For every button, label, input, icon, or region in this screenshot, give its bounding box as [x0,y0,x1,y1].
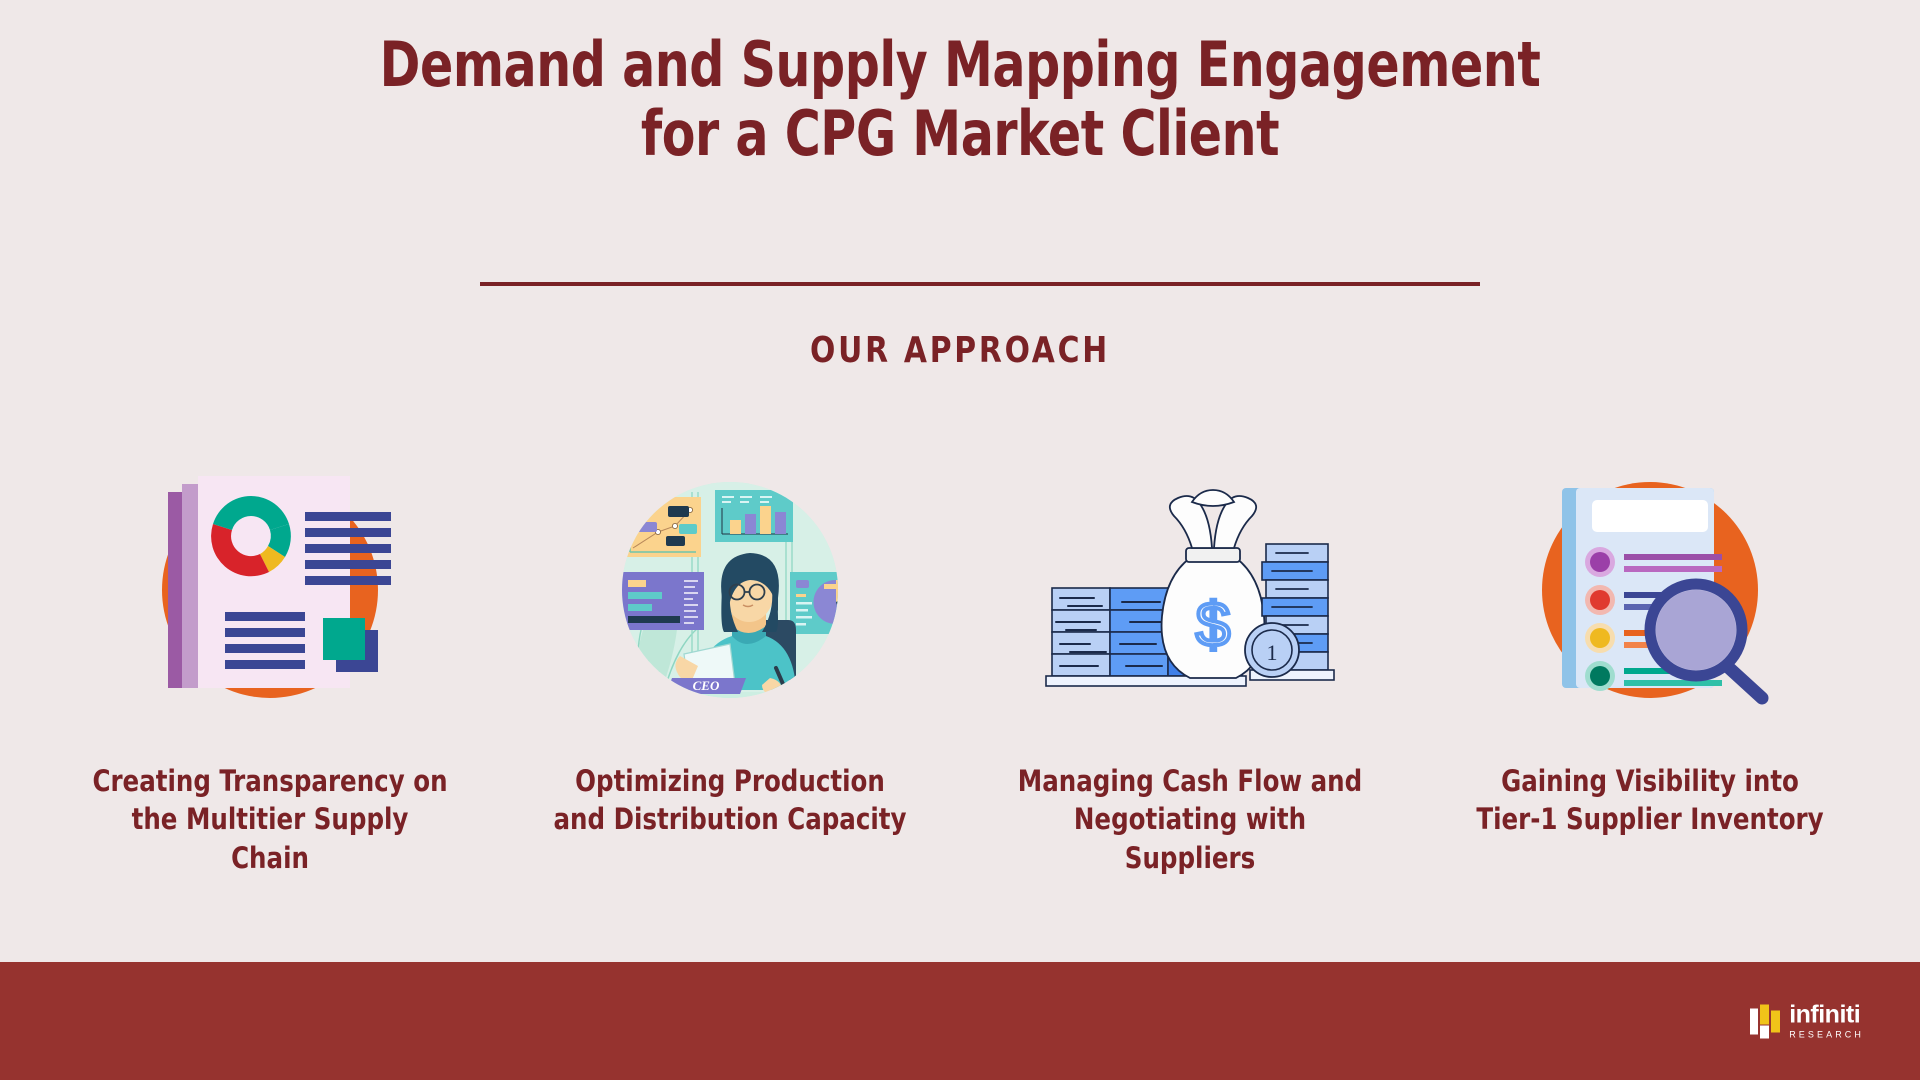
card-caption: Gaining Visibility into Tier-1 Supplier … [1471,762,1828,839]
logo-name: infiniti [1789,1003,1864,1028]
title-line-2: for a CPG Market Client [115,99,1805,168]
business-analyst-dashboard-icon: CEO [580,440,880,740]
approach-cards: Creating Transparency on the Multitier S… [60,440,1860,877]
brand-logo[interactable]: infiniti RESEARCH [1750,1003,1864,1040]
card-managing-cash-flow[interactable]: $ [980,440,1400,877]
coin-value-label: 1 [1267,640,1278,665]
title-line-1: Demand and Supply Mapping Engagement [115,30,1805,99]
logo-mark-icon [1750,1004,1780,1038]
logo-subtitle: RESEARCH [1789,1031,1864,1040]
card-gaining-visibility[interactable]: Gaining Visibility into Tier-1 Supplier … [1440,440,1860,839]
clipboard-magnifier-icon [1500,440,1800,740]
footer-bar: infiniti RESEARCH [0,962,1920,1080]
infographic-page: Demand and Supply Mapping Engagement for… [0,0,1920,1080]
card-caption: Managing Cash Flow and Negotiating with … [1011,762,1368,877]
card-caption: Creating Transparency on the Multitier S… [91,762,448,877]
section-heading: OUR APPROACH [77,330,1843,371]
card-creating-transparency[interactable]: Creating Transparency on the Multitier S… [60,440,480,877]
ceo-nameplate-label: CEO [693,678,720,693]
report-documents-icon [120,440,420,740]
card-optimizing-production[interactable]: CEO Optimizing Production and Distributi… [520,440,940,839]
dollar-symbol: $ [1196,591,1230,660]
page-title: Demand and Supply Mapping Engagement for… [0,30,1920,169]
logo-wordmark: infiniti RESEARCH [1789,1003,1864,1040]
card-caption: Optimizing Production and Distribution C… [551,762,908,839]
title-divider [480,282,1480,286]
cash-money-bag-icon: $ [1040,440,1340,740]
